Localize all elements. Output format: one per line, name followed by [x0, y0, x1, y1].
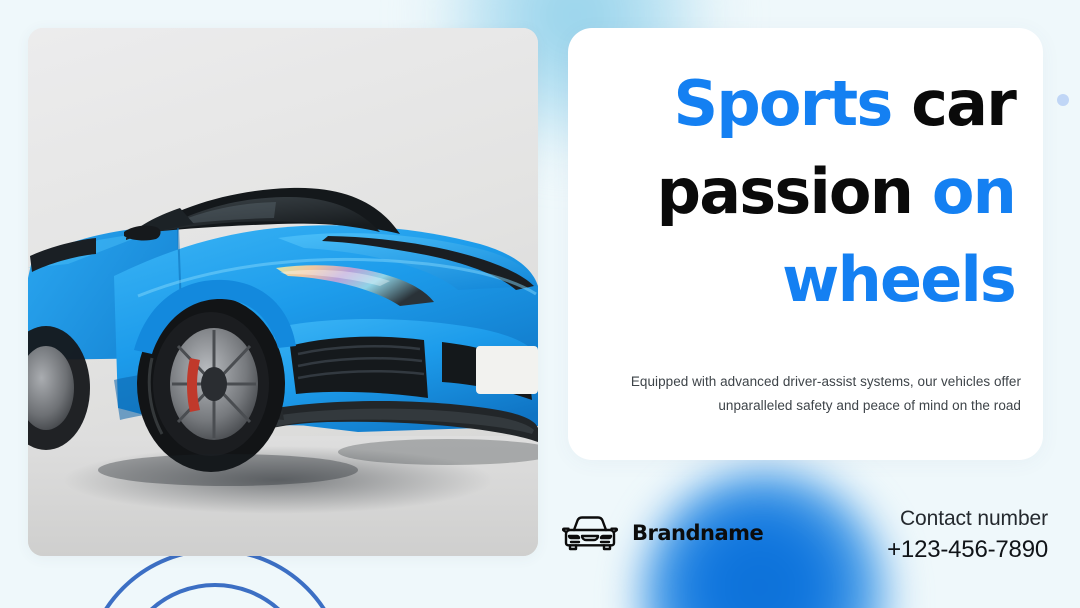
decorative-dot-right [1057, 94, 1069, 106]
contact-label: Contact number [887, 505, 1048, 534]
headline-word-passion: passion [657, 155, 932, 228]
car-front-icon [562, 512, 618, 554]
contact-number[interactable]: +123-456-7890 [887, 534, 1048, 565]
contact-block: Contact number +123-456-7890 [887, 505, 1048, 565]
headline-word-wheels: wheels [782, 243, 1015, 316]
hero-car-photo [28, 28, 538, 556]
headline-word-car: car [891, 67, 1015, 140]
body-description: Equipped with advanced driver-assist sys… [626, 370, 1021, 418]
car-photo-illustration [28, 28, 538, 556]
content-card: Sports car passion on wheels Equipped wi… [568, 28, 1043, 460]
brand-name-label: Brandname [632, 521, 763, 545]
headline-word-sports: Sports [673, 67, 891, 140]
brand-lockup[interactable]: Brandname [562, 512, 763, 554]
page-title: Sports car passion on wheels [596, 60, 1015, 324]
headline-word-on: on [932, 155, 1015, 228]
